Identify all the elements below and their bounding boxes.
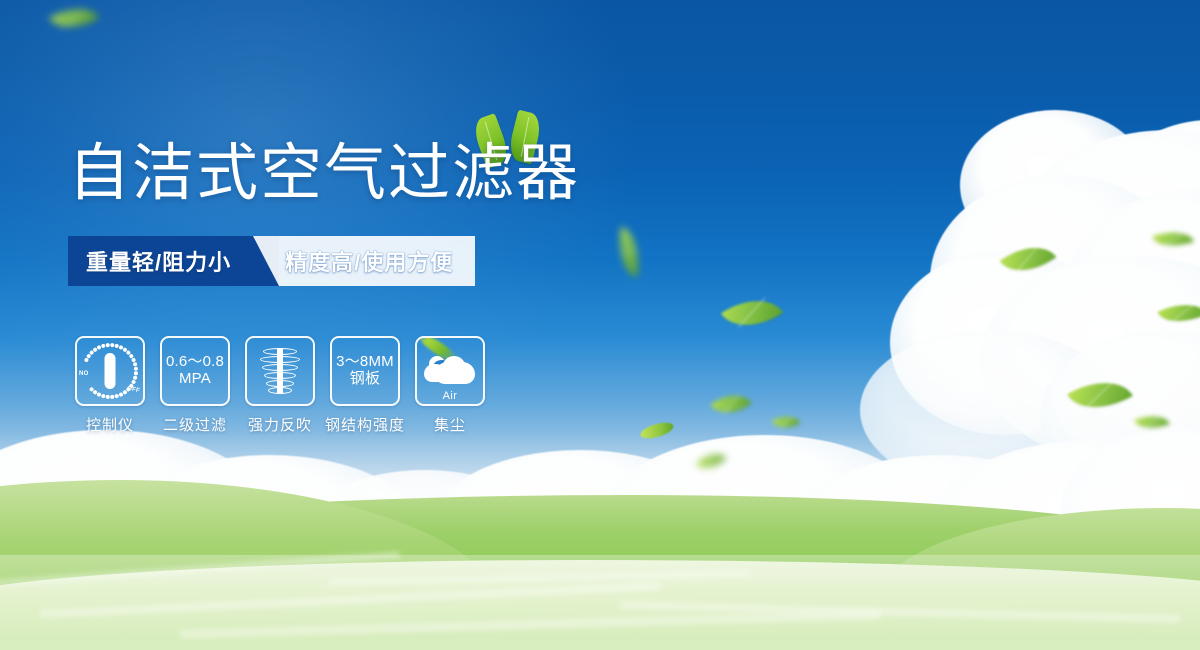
feature-item-dust-collection[interactable]: Air 集尘 (410, 336, 490, 435)
page-title: 自洁式空气过滤器 (68, 143, 580, 205)
promo-banner: 自洁式空气过滤器 重量轻/阻力小 精度高/使用方便 (0, 0, 1200, 650)
subtitle-bar: 重量轻/阻力小 精度高/使用方便 (68, 236, 475, 286)
gauge-icon: NO OFF (79, 340, 141, 402)
feature-label: 集尘 (410, 414, 490, 435)
feature-icon-box: 0.6～0.8 MPA (160, 336, 230, 406)
stacked-rings-axis (277, 348, 283, 394)
stacked-rings-icon (256, 346, 304, 396)
subtitle-divider (253, 236, 279, 286)
subtitle-right-segment: 精度高/使用方便 (279, 236, 475, 286)
feature-item-strong-blowback[interactable]: 强力反吹 (240, 336, 320, 435)
pressure-text-icon: 0.6～0.8 MPA (166, 354, 224, 388)
feature-icon-box: 3～8MM 钢板 (330, 336, 400, 406)
cloud-air-icon: Air (421, 346, 479, 396)
thickness-text-icon: 3～8MM 钢板 (336, 354, 394, 388)
feature-label: 钢结构强度 (325, 414, 405, 435)
gauge-switch-handle (105, 353, 116, 389)
feature-item-steel-strength[interactable]: 3～8MM 钢板 钢结构强度 (325, 336, 405, 435)
subtitle-left-segment: 重量轻/阻力小 (68, 236, 253, 286)
feature-item-two-stage-filter[interactable]: 0.6～0.8 MPA 二级过滤 (155, 336, 235, 435)
feature-label: 控制仪 (70, 414, 150, 435)
air-text-label: Air (421, 390, 479, 402)
feature-item-controller[interactable]: NO OFF 控制仪 (70, 336, 150, 435)
feature-icon-box (245, 336, 315, 406)
grass-field-near (0, 560, 1200, 650)
feature-list: NO OFF 控制仪 0.6～0.8 MPA 二级过滤 (70, 336, 490, 435)
feature-label: 二级过滤 (155, 414, 235, 435)
feature-icon-box: Air (415, 336, 485, 406)
gauge-no-label: NO (79, 371, 89, 377)
feature-label: 强力反吹 (240, 414, 320, 435)
feature-icon-box: NO OFF (75, 336, 145, 406)
cloud-body-shape (435, 362, 475, 384)
